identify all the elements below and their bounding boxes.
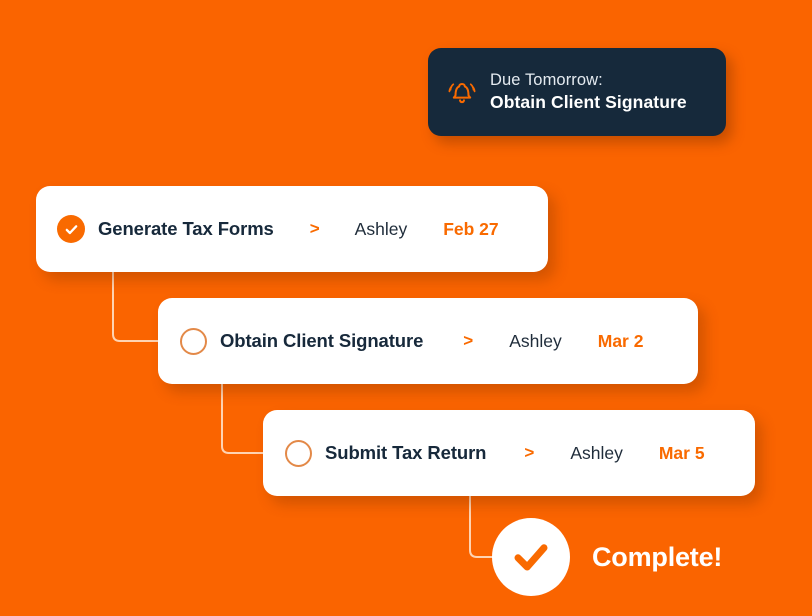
chevron-right-separator: >: [463, 331, 473, 351]
circle-outline-icon[interactable]: [180, 328, 207, 355]
task-card[interactable]: Submit Tax Return > Ashley Mar 5: [263, 410, 755, 496]
task-status-toggle[interactable]: [158, 328, 220, 355]
connector-1: [113, 272, 158, 341]
task-card[interactable]: Obtain Client Signature > Ashley Mar 2: [158, 298, 698, 384]
task-assignee: Ashley: [355, 219, 408, 240]
circle-outline-icon[interactable]: [285, 440, 312, 467]
task-assignee: Ashley: [570, 443, 623, 464]
task-due-date: Mar 5: [659, 443, 705, 464]
task-title: Submit Tax Return: [325, 442, 486, 464]
task-due-date: Mar 2: [598, 331, 644, 352]
toast-task-title: Obtain Client Signature: [490, 92, 687, 114]
due-tomorrow-toast[interactable]: Due Tomorrow: Obtain Client Signature: [428, 48, 726, 136]
toast-text-block: Due Tomorrow: Obtain Client Signature: [490, 70, 687, 115]
chevron-right-separator: >: [524, 443, 534, 463]
task-title: Generate Tax Forms: [98, 218, 274, 240]
ringing-bell-icon: [428, 75, 490, 109]
task-status-toggle[interactable]: [36, 215, 98, 243]
task-card[interactable]: Generate Tax Forms > Ashley Feb 27: [36, 186, 548, 272]
check-large-icon: [492, 518, 570, 596]
workflow-complete-badge: Complete!: [492, 518, 722, 596]
task-assignee: Ashley: [509, 331, 562, 352]
task-due-date: Feb 27: [443, 219, 498, 240]
connector-2: [222, 384, 263, 453]
check-circle-filled-icon[interactable]: [57, 215, 85, 243]
workflow-canvas: Due Tomorrow: Obtain Client Signature Ge…: [0, 0, 812, 616]
task-status-toggle[interactable]: [263, 440, 325, 467]
toast-due-label: Due Tomorrow:: [490, 70, 687, 91]
complete-label: Complete!: [592, 542, 722, 573]
task-title: Obtain Client Signature: [220, 330, 423, 352]
chevron-right-separator: >: [310, 219, 320, 239]
